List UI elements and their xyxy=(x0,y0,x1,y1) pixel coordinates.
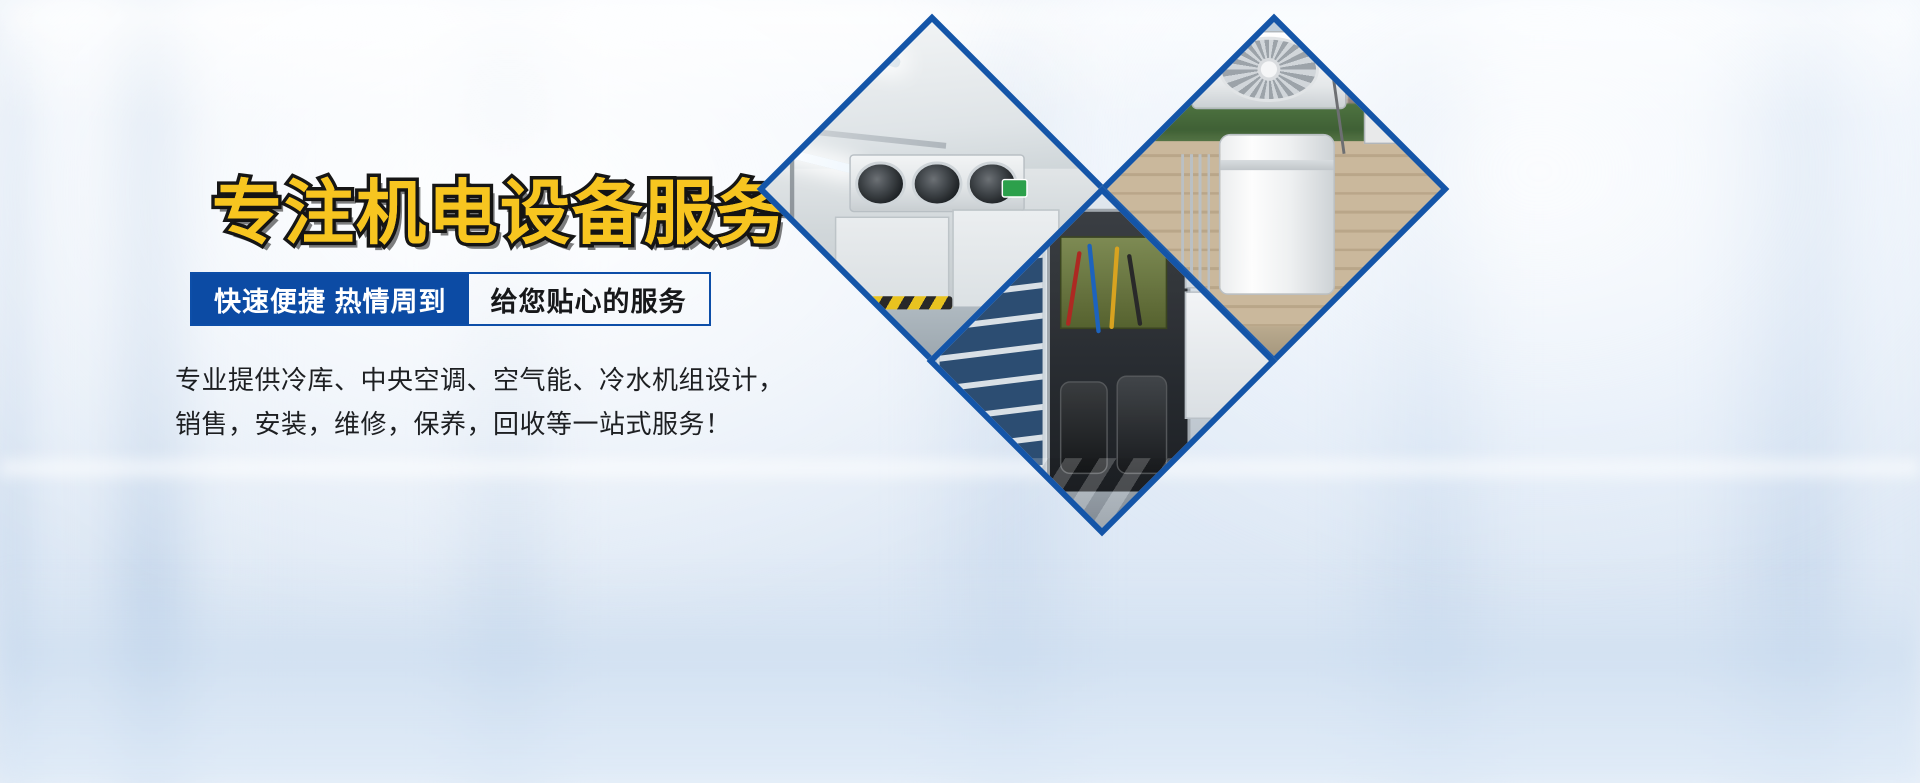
headline: 专注机电设备服务 xyxy=(212,178,788,248)
fan-icon xyxy=(856,161,907,207)
description-line-1: 专业提供冷库、中央空调、空气能、冷水机组设计， xyxy=(175,358,785,402)
tagline-bar: 快速便捷 热情周到 给您贴心的服务 xyxy=(190,272,711,326)
description: 专业提供冷库、中央空调、空气能、冷水机组设计， 销售，安装，维修，保养，回收等一… xyxy=(175,358,785,446)
description-line-2: 销售，安装，维修，保养，回收等一站式服务！ xyxy=(175,402,785,446)
tagline-secondary: 给您贴心的服务 xyxy=(469,274,709,324)
fan-icon xyxy=(912,161,963,207)
evaporator-unit xyxy=(849,154,1024,212)
banner-copy: 专注机电设备服务 专注机电设备服务 快速便捷 热情周到 给您贴心的服务 专业提供… xyxy=(0,0,880,783)
promo-banner: 专注机电设备服务 专注机电设备服务 快速便捷 热情周到 给您贴心的服务 专业提供… xyxy=(0,0,1920,783)
exit-sign-icon xyxy=(1001,179,1027,198)
fan-icon xyxy=(1219,37,1319,102)
photo-cluster xyxy=(760,45,1560,605)
tagline-primary: 快速便捷 热情周到 xyxy=(192,274,469,324)
water-tank xyxy=(1219,134,1336,296)
